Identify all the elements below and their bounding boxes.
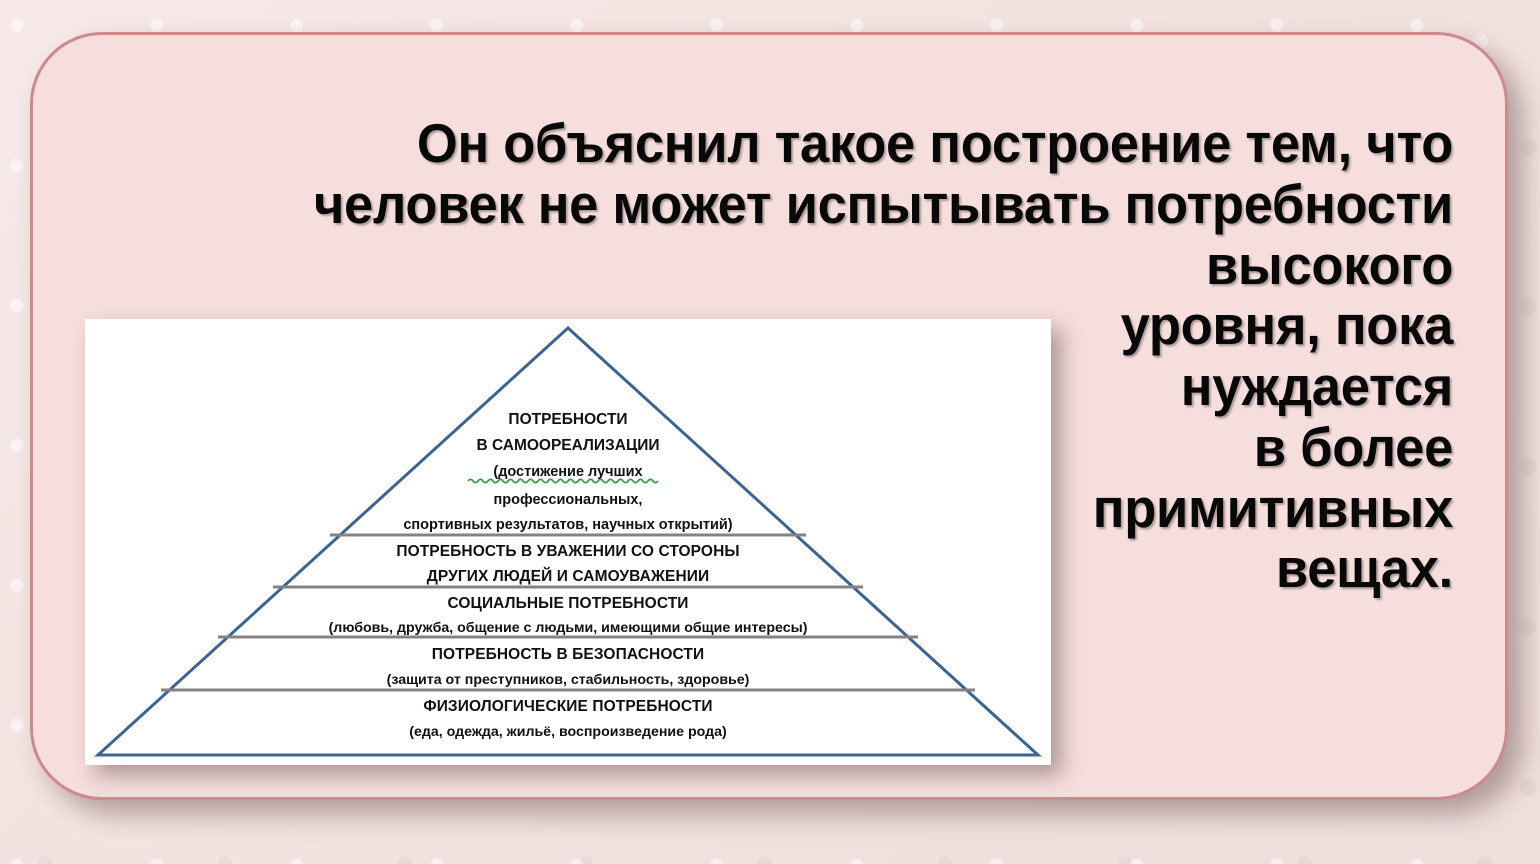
level-social-line-1: СОЦИАЛЬНЫЕ ПОТРЕБНОСТИ	[447, 595, 688, 612]
level-self-actualization-line-3: (достижение лучших	[493, 464, 642, 480]
level-social-line-2: (любовь, дружба, общение с людьми, имеющ…	[329, 620, 808, 636]
pyramid-image-panel: ПОТРЕБНОСТИ В САМООРЕАЛИЗАЦИИ (достижени…	[85, 319, 1051, 765]
level-safety-line-1: ПОТРЕБНОСТЬ В БЕЗОПАСНОСТИ	[432, 646, 704, 663]
level-self-actualization-line-1: ПОТРЕБНОСТИ	[508, 411, 627, 428]
content-card: Он объяснил такое построение тем, что че…	[30, 32, 1508, 800]
level-self-actualization-line-2: В САМООРЕАЛИЗАЦИИ	[476, 437, 659, 454]
level-esteem-line-1: ПОТРЕБНОСТЬ В УВАЖЕНИИ СО СТОРОНЫ	[396, 543, 739, 560]
level-self-actualization-line-4: профессиональных,	[494, 492, 643, 508]
level-physiological-line-2: (еда, одежда, жильё, воспроизведение род…	[409, 724, 727, 740]
level-physiological-line-1: ФИЗИОЛОГИЧЕСКИЕ ПОТРЕБНОСТИ	[423, 698, 712, 715]
level-safety-line-2: (защита от преступников, стабильность, з…	[387, 672, 750, 688]
level-esteem-line-2: ДРУГИХ ЛЮДЕЙ И САМОУВАЖЕНИИ	[427, 567, 710, 585]
maslow-pyramid-diagram: ПОТРЕБНОСТИ В САМООРЕАЛИЗАЦИИ (достижени…	[85, 319, 1051, 765]
level-self-actualization-line-5: спортивных результатов, научных открытий…	[403, 517, 732, 533]
